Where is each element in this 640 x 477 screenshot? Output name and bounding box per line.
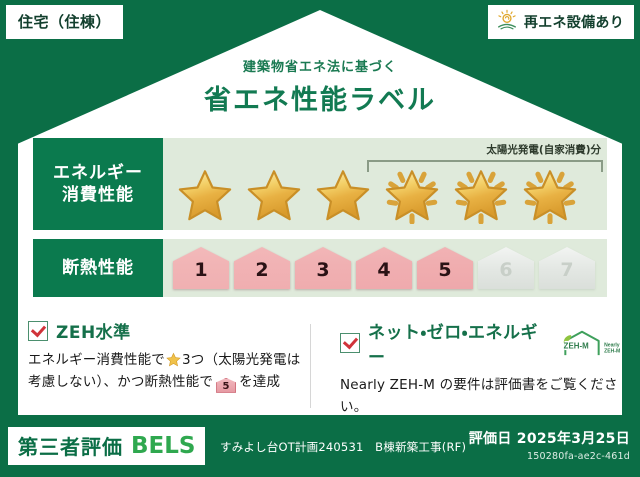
statement-zeh-standard: ZEH水準 エネルギー消費性能で3つ（太陽光発電は考慮しない）、かつ断熱性能で5… [0,318,328,410]
inline-grade-value: 5 [222,381,229,392]
energy-performance-label: 住宅（住棟） 再エネ設備あり 建築物省エネ法に基づく 省エネ性能ラベル [0,0,640,477]
grade-value: 5 [438,261,451,289]
star-6 [516,164,583,226]
insulation-grade-7: 7 [539,247,595,289]
grade-value: 2 [255,261,268,289]
renewable-badge-label: 再エネ設備あり [524,12,624,32]
grade-list: 1 2 3 4 5 6 7 [173,247,595,289]
evaluation-date: 評価日 2025年3月25日 [469,428,630,448]
zeh-m-logo-sub1: Nearly [604,343,620,349]
svg-text:ZEH-M: ZEH-M [564,341,589,350]
check-icon [340,333,360,353]
bels-badge: 第三者評価 BELS [8,427,205,465]
energy-star-rating: 太陽光発電(自家消費)分 [163,138,607,230]
title-main: 省エネ性能ラベル [0,78,640,117]
star-1 [171,164,238,226]
star-icon [245,166,303,224]
star-icon [452,166,510,224]
insulation-grade-scale: 1 2 3 4 5 6 7 [163,239,607,297]
evaluation-uid: 150280fa-ae2c-461d [469,451,630,462]
grade-value: 4 [377,261,390,289]
grade-value: 6 [499,261,512,289]
title-subtitle: 建築物省エネ法に基づく [0,56,640,75]
statement-netzero-header: ネット・ゼロ・エネルギー ZEH-M Nearly ZEH-M [340,318,626,368]
insulation-label: 断熱性能 [62,257,134,279]
statement-zeh-title: ZEH水準 [56,318,131,343]
star-4 [378,164,445,226]
energy-performance-label-box: エネルギー 消費性能 [33,138,163,230]
star-icon [383,166,441,224]
inline-grade-badge: 5 [216,378,236,393]
star-icon [521,166,579,224]
insulation-grade-2: 2 [234,247,290,289]
statement-net-zero: ネット・ゼロ・エネルギー ZEH-M Nearly ZEH-M Nearly Z… [328,318,640,410]
statement-netzero-title: ネット・ゼロ・エネルギー [368,318,550,368]
statements-divider [310,324,311,408]
insulation-grade-6: 6 [478,247,534,289]
label-title: 建築物省エネ法に基づく 省エネ性能ラベル [0,56,640,117]
statement-zeh-header: ZEH水準 [28,318,314,343]
inline-star-icon [166,352,181,367]
bels-en-label: BELS [131,433,195,459]
zeh-m-logo: ZEH-M Nearly ZEH-M [562,330,626,356]
energy-label-line1: エネルギー [53,162,143,184]
insulation-grade-4: 4 [356,247,412,289]
bels-jp-label: 第三者評価 [18,431,123,460]
evaluation-info: 評価日 2025年3月25日 150280fa-ae2c-461d [469,428,630,462]
insulation-grade-1: 1 [173,247,229,289]
star-icon [176,166,234,224]
pv-bracket-label: 太陽光発電(自家消費)分 [486,142,601,157]
statement-zeh-text1: エネルギー消費性能で [28,352,165,368]
project-name: すみよし台OT計画240531 B棟新築工事(RF) [220,439,466,455]
star-5 [447,164,514,226]
energy-performance-row: エネルギー 消費性能 太陽光発電(自家消費)分 [33,138,607,230]
star-3 [309,164,376,226]
grade-value: 1 [194,261,207,289]
star-icon [314,166,372,224]
statement-zeh-body: エネルギー消費性能で3つ（太陽光発電は考慮しない）、かつ断熱性能で5を達成 [28,350,314,394]
statement-zeh-text3: を達成 [239,374,280,390]
statements-container: ZEH水準 エネルギー消費性能で3つ（太陽光発電は考慮しない）、かつ断熱性能で5… [0,318,640,410]
star-2 [240,164,307,226]
energy-label-line2: 消費性能 [62,184,134,206]
renewable-energy-badge: 再エネ設備あり [488,5,634,39]
metrics-container: エネルギー 消費性能 太陽光発電(自家消費)分 [33,138,607,306]
insulation-performance-label-box: 断熱性能 [33,239,163,297]
statement-zeh-starcount: 3つ [182,352,205,368]
grade-value: 3 [316,261,329,289]
insulation-performance-row: 断熱性能 1 2 3 4 5 6 7 [33,239,607,297]
category-chip: 住宅（住棟） [6,5,123,39]
insulation-grade-5: 5 [417,247,473,289]
grade-value: 7 [560,261,573,289]
statement-netzero-body: Nearly ZEH-M の要件は評価書をご覧ください。 [340,375,626,419]
zeh-m-logo-sub2: ZEH-M [604,348,620,354]
label-footer: 第三者評価 BELS すみよし台OT計画240531 B棟新築工事(RF) 評価… [0,415,640,477]
sun-icon [496,9,518,35]
insulation-grade-3: 3 [295,247,351,289]
check-icon [28,321,48,341]
star-list [171,164,601,226]
